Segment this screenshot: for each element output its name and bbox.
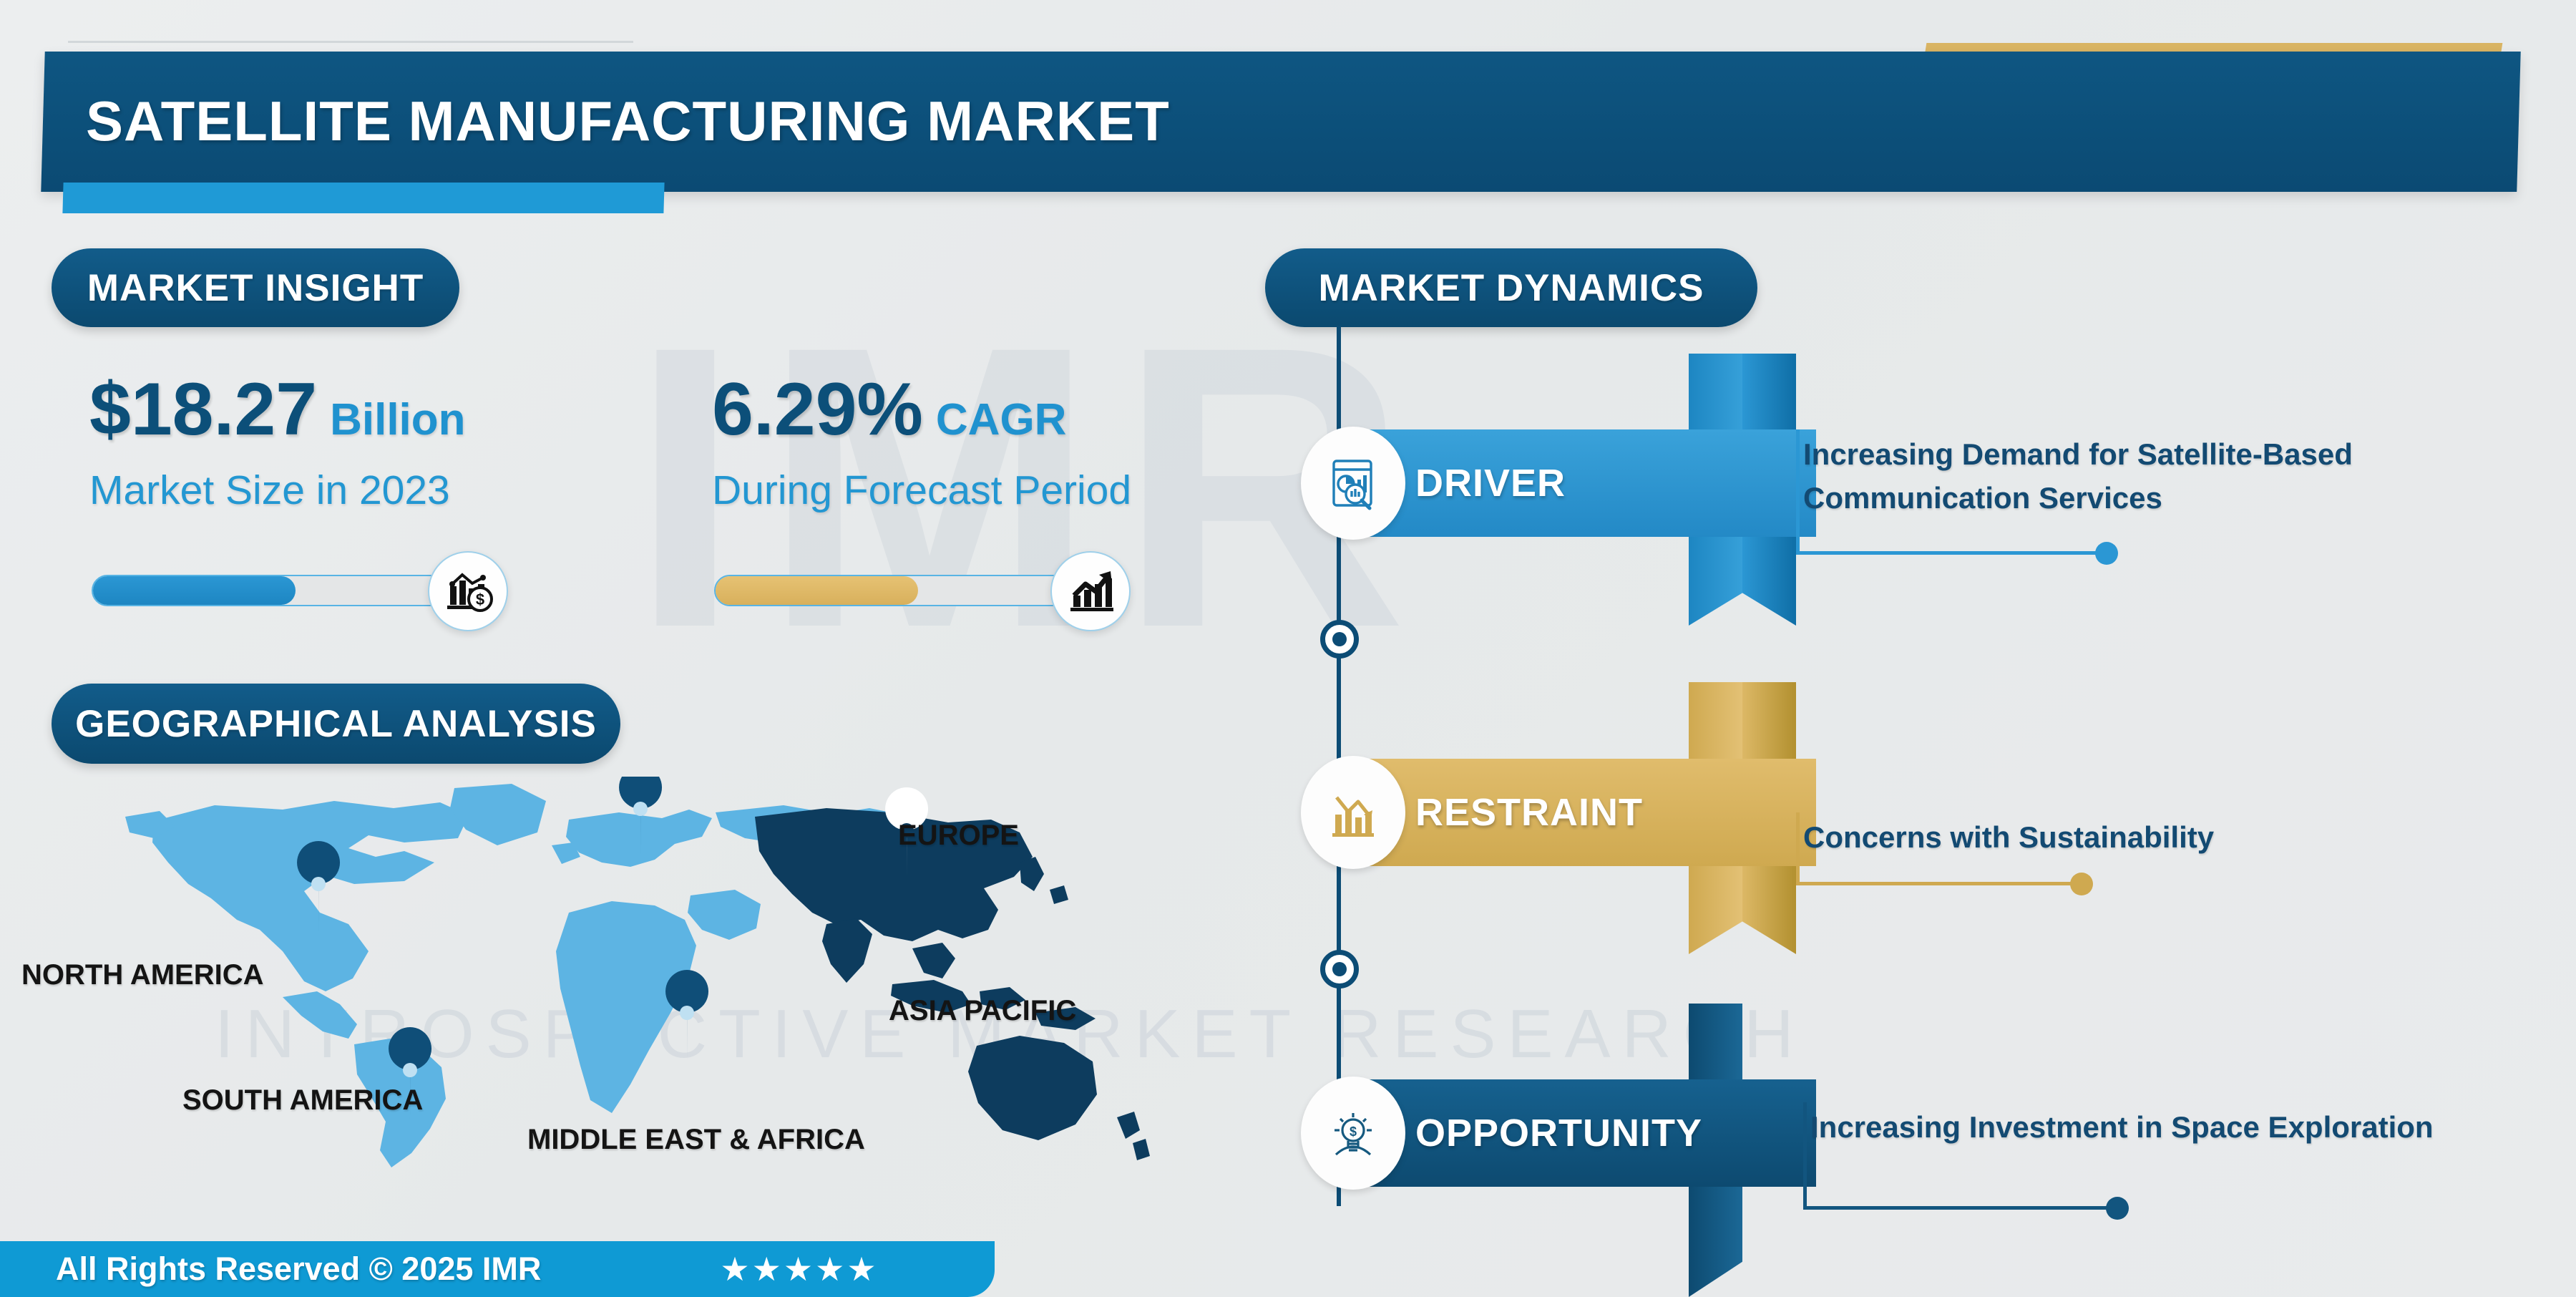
driver-vertical-rule [1796,429,1800,553]
driver-label: DRIVER [1415,429,1566,537]
progress-market-size-fill [93,576,296,605]
map-pin-middle-east-africa [665,970,708,1062]
progress-cagr [714,551,1158,630]
section-title-market-insight: MARKET INSIGHT [52,248,459,327]
top-rule-decoration [68,41,633,43]
restraint-end-dot [2070,873,2093,895]
opportunity-underline [1803,1206,2118,1210]
stat-market-size-caption: Market Size in 2023 [89,467,466,514]
section-title-market-dynamics: MARKET DYNAMICS [1265,248,1757,327]
map-label-europe: EUROPE [898,820,1019,852]
report-analysis-icon [1301,427,1405,540]
opportunity-vertical-rule [1803,1102,1807,1208]
market-dynamics-item-opportunity[interactable]: $ OPPORTUNITY [1301,1079,1816,1187]
progress-market-size-track [92,575,449,606]
opportunity-description: Increasing Investment in Space Explorati… [1810,1106,2540,1150]
timeline-node-2 [1320,950,1359,988]
section-title-geographical-analysis: GEOGRAPHICAL ANALYSIS [52,684,620,764]
market-dynamics-item-restraint[interactable]: RESTRAINT [1301,759,1816,866]
map-pin-europe [619,777,662,858]
lightbulb-dollar-icon: $ [1301,1077,1405,1190]
stat-market-size-value: $18.27 [89,372,317,447]
growth-arrow-chart-icon [1050,551,1131,631]
stat-cagr-value: 6.29% [712,372,923,447]
market-dynamics-item-driver[interactable]: DRIVER [1301,429,1816,537]
svg-text:$: $ [476,591,484,608]
progress-cagr-fill [716,576,918,605]
driver-end-dot [2095,542,2118,565]
map-label-north-america: NORTH AMERICA [21,959,264,991]
restraint-description: Concerns with Sustainability [1803,816,2533,860]
svg-text:$: $ [1350,1124,1357,1139]
progress-market-size: $ [92,551,535,630]
opportunity-end-dot [2106,1197,2129,1220]
driver-ribbon-body [1340,429,1816,537]
map-label-asia-pacific: ASIA PACIFIC [889,995,1076,1027]
infographic-canvas: IMR INTROSPECTIVE MARKET RESEARCH SATELL… [0,0,2576,1297]
stat-cagr: 6.29%CAGR During Forecast Period [712,372,1131,514]
restraint-label: RESTRAINT [1415,759,1643,866]
driver-underline [1796,551,2107,555]
stat-market-size-unit: Billion [330,394,465,445]
map-pin-north-america [297,841,340,933]
header-accent-bar [62,183,664,213]
rating-stars-icon: ★★★★★ [720,1250,878,1288]
restraint-underline [1796,882,2082,885]
progress-cagr-track [714,575,1072,606]
page-title: SATELLITE MANUFACTURING MARKET [86,89,2376,154]
stat-cagr-caption: During Forecast Period [712,467,1131,514]
opportunity-label: OPPORTUNITY [1415,1079,1702,1187]
restraint-vertical-rule [1796,812,1800,884]
driver-description: Increasing Demand for Satellite-Based Co… [1803,433,2533,520]
bar-chart-dollar-icon: $ [428,551,508,631]
stat-market-size: $18.27Billion Market Size in 2023 [89,372,466,514]
map-label-middle-east-africa: MIDDLE EAST & AFRICA [527,1124,865,1156]
stat-cagr-unit: CAGR [936,394,1067,445]
footer-copyright: All Rights Reserved © 2025 IMR [56,1250,541,1288]
timeline-node-1 [1320,620,1359,659]
declining-chart-icon [1301,756,1405,869]
map-label-south-america: SOUTH AMERICA [182,1084,423,1117]
footer-bar: All Rights Reserved © 2025 IMR ★★★★★ [0,1241,995,1297]
